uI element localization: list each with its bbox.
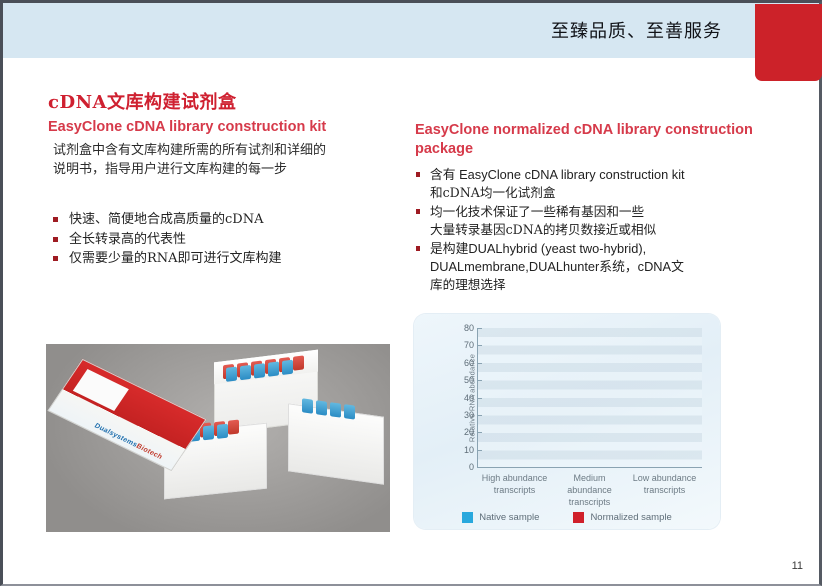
left-title-cn: cDNA文库构建试剂盒 [48, 91, 393, 114]
tube-blue [226, 367, 237, 382]
left-column: cDNA文库构建试剂盒 EasyClone cDNA library const… [48, 91, 393, 180]
right-bullet-2: 均一化技术保证了一些稀有基因和一些 大量转录基因cDNA的拷贝数接近或相似 [415, 203, 765, 239]
tube-blue [302, 398, 313, 414]
tube-blue [254, 363, 265, 378]
tube-blue [282, 360, 293, 375]
tube-blue [240, 365, 251, 380]
tube-red [228, 420, 239, 435]
tube-blue [330, 402, 341, 418]
chart-y-tick: 10 [464, 445, 474, 455]
chart-y-tick: 0 [469, 462, 474, 472]
tube-blue [316, 400, 327, 416]
left-paragraph-line-1: 试剂盒中含有文库构建所需的所有试剂和详细的 [53, 142, 393, 161]
tube-red [293, 355, 304, 370]
chart-y-tick: 30 [464, 410, 474, 420]
right-bullet-3-line-2: DUALmembrane,DUALhunter系统，cDNA文 [430, 258, 765, 276]
tube-blue [344, 404, 355, 420]
left-bullet-3: 仅需要少量的RNA即可进行文库构建 [51, 249, 391, 269]
kit-box-right [288, 403, 384, 484]
chart-x-label: Medium abundancetranscripts [552, 472, 627, 506]
right-bullet-3-line-1: 是构建DUALhybrid (yeast two-hybrid), [430, 240, 765, 258]
right-bullet-list: 含有 EasyClone cDNA library construction k… [415, 166, 765, 294]
chart-plot-area: Relative RNA abundance 01020304050607080 [477, 328, 702, 468]
chart-x-label: High abundancetranscripts [477, 472, 552, 506]
chart-y-tick: 20 [464, 427, 474, 437]
left-bullet-1: 快速、简便地合成高质量的cDNA [51, 210, 391, 230]
header-slogan: 至臻品质、至善服务 [551, 17, 722, 43]
slide: 至臻品质、至善服务 cDNA文库构建试剂盒 EasyClone cDNA lib… [0, 0, 822, 586]
right-bullet-3-line-3: 库的理想选择 [430, 276, 765, 294]
chart-bars [478, 328, 702, 467]
tube-blue [268, 361, 279, 376]
chart-legend-swatch [462, 512, 473, 523]
tube-blue [217, 424, 228, 439]
right-column: EasyClone normalized cDNA library constr… [415, 121, 765, 295]
page-number: 11 [792, 560, 803, 572]
chart-x-axis-labels: High abundancetranscriptsMedium abundanc… [477, 472, 702, 506]
chart-y-tick: 60 [464, 358, 474, 368]
left-paragraph: 试剂盒中含有文库构建所需的所有试剂和详细的 说明书，指导用户进行文库构建的每一步 [53, 142, 393, 180]
right-bullet-1-line-1: 含有 EasyClone cDNA library construction k… [430, 166, 765, 184]
chart-legend-swatch [573, 512, 584, 523]
chart-y-tick: 70 [464, 340, 474, 350]
chart-legend: Native sampleNormalized sample [414, 512, 720, 523]
chart-legend-label: Native sample [479, 512, 539, 523]
right-bullet-2-line-2: 大量转录基因cDNA的拷贝数接近或相似 [430, 221, 765, 239]
chart-legend-item: Native sample [462, 512, 539, 523]
right-bullet-2-line-1: 均一化技术保证了一些稀有基因和一些 [430, 203, 765, 221]
left-paragraph-line-2: 说明书，指导用户进行文库构建的每一步 [53, 161, 393, 180]
rna-abundance-chart: Relative RNA abundance 01020304050607080… [414, 314, 720, 529]
chart-legend-label: Normalized sample [590, 512, 671, 523]
right-bullet-3: 是构建DUALhybrid (yeast two-hybrid), DUALme… [415, 240, 765, 294]
tube-blue [203, 425, 214, 440]
left-bullet-2: 全长转录高的代表性 [51, 230, 391, 250]
right-bullet-1-line-2: 和cDNA均一化试剂盒 [430, 184, 765, 202]
product-photo: DualsystemsBiotech [46, 344, 390, 532]
chart-x-label: Low abundancetranscripts [627, 472, 702, 506]
left-title-en: EasyClone cDNA library construction kit [48, 118, 393, 137]
left-bullet-list: 快速、简便地合成高质量的cDNA 全长转录高的代表性 仅需要少量的RNA即可进行… [51, 210, 391, 269]
right-bullet-1: 含有 EasyClone cDNA library construction k… [415, 166, 765, 202]
header-red-tab [755, 4, 822, 81]
chart-y-tick: 40 [464, 393, 474, 403]
chart-y-tick: 50 [464, 375, 474, 385]
right-title-en: EasyClone normalized cDNA library constr… [415, 121, 765, 158]
chart-legend-item: Normalized sample [573, 512, 671, 523]
chart-y-tick: 80 [464, 323, 474, 333]
